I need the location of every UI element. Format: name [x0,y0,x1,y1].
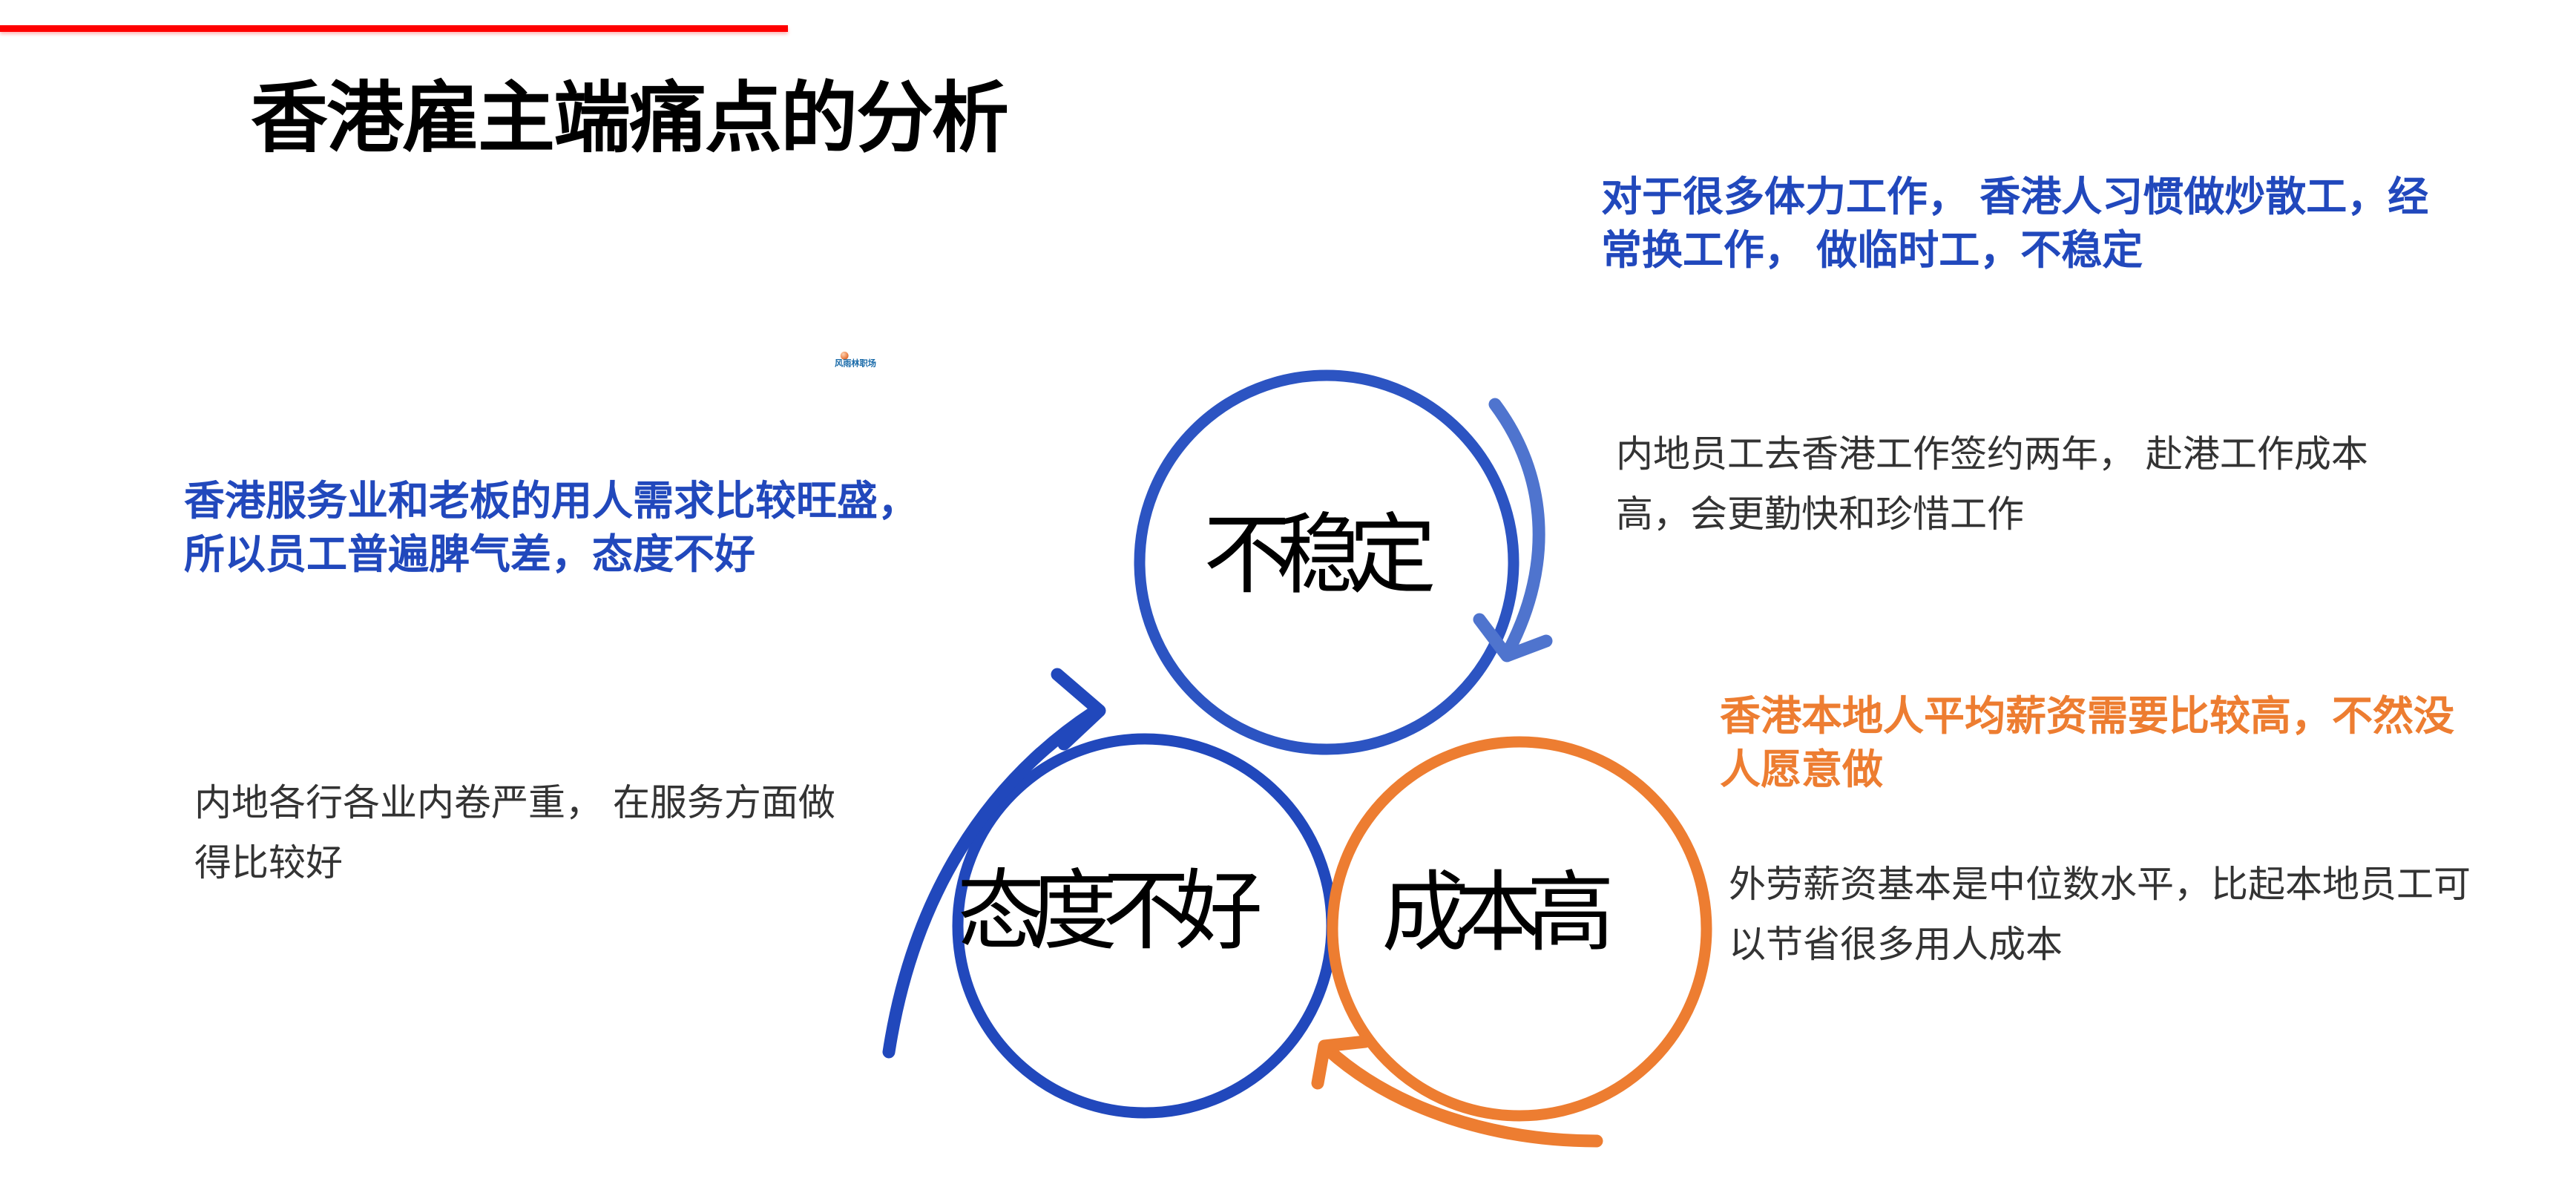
circle-label-cost: 成本高 [1381,869,1600,957]
page-title: 香港雇主端痛点的分析 [251,77,1008,160]
arrow-cost-to-attitude [1318,1042,1597,1141]
callout-left-body: 内地各行各业内卷严重， 在服务方面做得比较好 [194,773,862,893]
callout-top-right-heading: 对于很多体力工作， 香港人习惯做炒散工，经常换工作， 做临时工，不稳定 [1601,171,2454,277]
callout-top-right-body: 内地员工去香港工作签约两年， 赴港工作成本高，会更勤快和珍惜工作 [1616,424,2439,545]
arrow-unstable-to-cost [1479,404,1546,656]
callout-bottom-right-body: 外劳薪资基本是中位数水平，比起本地员工可以节省很多用人成本 [1729,855,2485,975]
circle-label-unstable: 不稳定 [1203,512,1422,599]
callout-bottom-right-heading: 香港本地人平均薪资需要比较高，不然没人愿意做 [1720,690,2469,796]
top-red-divider [0,25,788,32]
logo-text: 风雨林职场 [835,358,876,368]
slide-canvas: 香港雇主端痛点的分析 风雨林职场 [0,0,2576,1187]
circle-label-attitude: 态度不好 [957,868,1248,956]
fengyulin-workplace-logo: 风雨林职场 [822,349,893,377]
callout-left-heading: 香港服务业和老板的用人需求比较旺盛，所以员工普遍脾气差，态度不好 [184,475,956,581]
